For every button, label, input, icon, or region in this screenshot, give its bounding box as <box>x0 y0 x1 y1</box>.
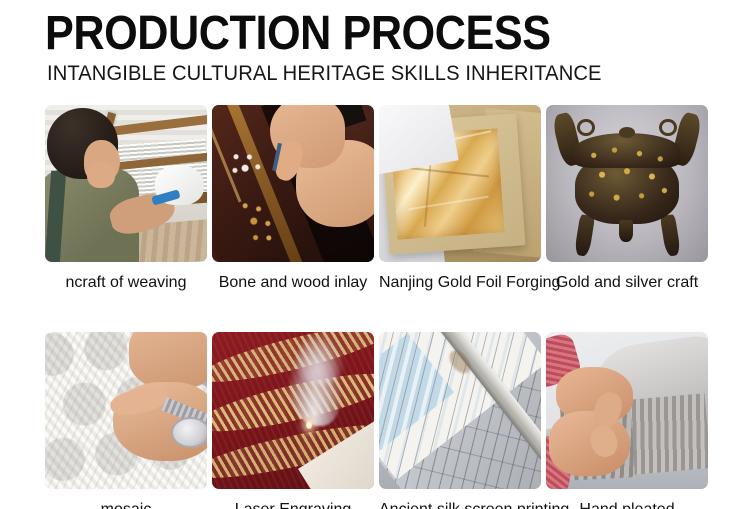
gold-foil-photo[interactable] <box>379 105 541 262</box>
page-subtitle: INTANGIBLE CULTURAL HERITAGE SKILLS INHE… <box>47 61 722 87</box>
gallery-caption: Ancient silk screen printing <box>379 500 541 509</box>
gallery-item-weaving[interactable]: ncraft of weaving <box>45 105 207 293</box>
poster-header: PRODUCTION PROCESS INTANGIBLE CULTURAL H… <box>0 0 750 87</box>
gallery-item-mosaic[interactable]: mosaic <box>45 332 207 509</box>
gallery-caption: Bone and wood inlay <box>212 273 374 293</box>
gallery-item-silk-screen-printing[interactable]: Ancient silk screen printing <box>379 332 541 509</box>
gallery-caption: ncraft of weaving <box>45 273 207 293</box>
gallery-item-gold-foil[interactable]: Nanjing Gold Foil Forging <box>379 105 541 293</box>
gallery-item-gold-silver-craft[interactable]: Gold and silver craft <box>546 105 708 293</box>
weaving-loom-photo[interactable] <box>45 105 207 262</box>
silk-screen-printing-photo[interactable] <box>379 332 541 489</box>
process-gallery-grid: ncraft of weaving Bone and wood inlay <box>45 105 706 509</box>
gallery-caption: Nanjing Gold Foil Forging <box>379 273 541 293</box>
hand-pleated-photo[interactable] <box>546 332 708 489</box>
gallery-caption: Hand pleated <box>546 500 708 509</box>
gallery-item-bone-wood-inlay[interactable]: Bone and wood inlay <box>212 105 374 293</box>
bone-wood-inlay-photo[interactable] <box>212 105 374 262</box>
gallery-caption: Laser Engraving <box>212 500 374 509</box>
laser-engraving-photo[interactable] <box>212 332 374 489</box>
gallery-caption: Gold and silver craft <box>546 273 708 293</box>
gallery-item-laser-engraving[interactable]: Laser Engraving <box>212 332 374 509</box>
gold-silver-ding-vessel-photo[interactable] <box>546 105 708 262</box>
gallery-item-hand-pleated[interactable]: Hand pleated <box>546 332 708 509</box>
mosaic-photo[interactable] <box>45 332 207 489</box>
poster-page: PRODUCTION PROCESS INTANGIBLE CULTURAL H… <box>0 0 750 509</box>
gallery-caption: mosaic <box>45 500 207 509</box>
page-title: PRODUCTION PROCESS <box>45 9 680 59</box>
